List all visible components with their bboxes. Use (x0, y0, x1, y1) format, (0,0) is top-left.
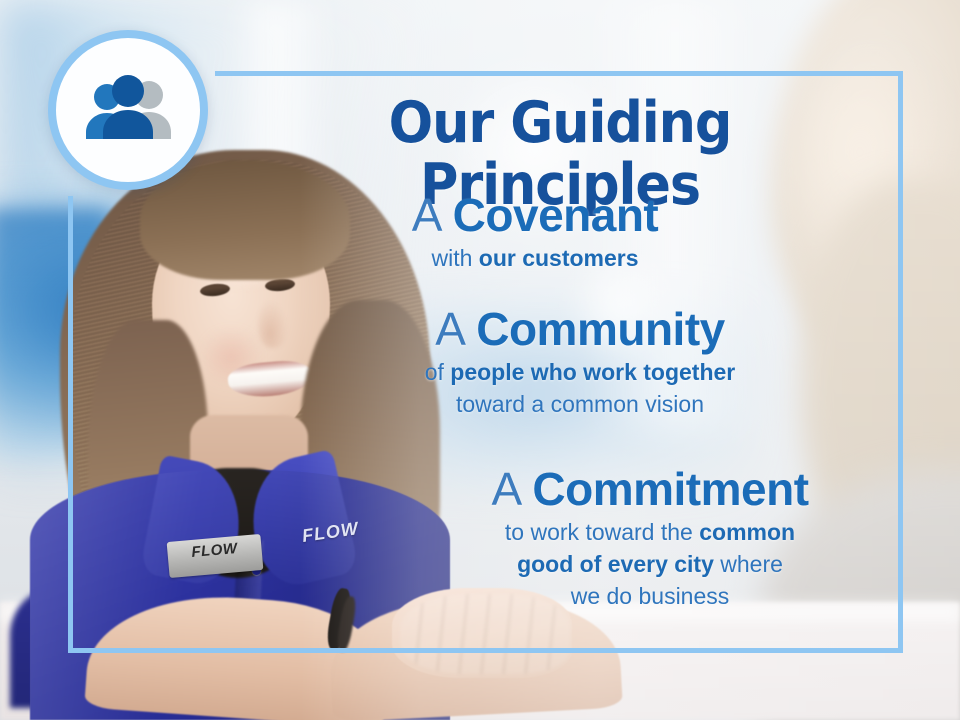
frame-border-left (68, 196, 73, 653)
principle-subtext-line: of people who work together (330, 356, 830, 388)
frame-border-top (215, 71, 903, 76)
frame-border-bottom (68, 648, 903, 653)
principle-keyword: Commitment (532, 463, 808, 515)
principle-commitment: A Commitment to work toward the commongo… (400, 462, 900, 612)
principle-subtext-line: with our customers (300, 242, 770, 274)
subtext-plain: with (431, 245, 478, 271)
banner-canvas: FLOW FLOW Our (0, 0, 960, 720)
employee-nose (258, 300, 288, 348)
subtext-emphasis: common (699, 519, 795, 545)
people-group-badge (48, 30, 208, 190)
principle-covenant: A Covenant with our customers (300, 188, 770, 274)
principle-keyword: Community (476, 303, 725, 355)
principle-article: A (412, 189, 453, 241)
principle-subtext-line: good of every city where (400, 548, 900, 580)
subtext-emphasis: good of every city (517, 551, 714, 577)
principle-article: A (491, 463, 532, 515)
principle-heading: A Community (330, 302, 830, 356)
principle-heading: A Commitment (400, 462, 900, 516)
subtext-plain: of (425, 359, 451, 385)
principle-subtext-line: to work toward the common (400, 516, 900, 548)
principle-subtext-line: we do business (400, 580, 900, 612)
principle-subtext: of people who work togethertoward a comm… (330, 356, 830, 420)
subtext-plain: to work toward the (505, 519, 699, 545)
subtext-emphasis: our customers (479, 245, 639, 271)
subtext-plain: we do business (571, 583, 730, 609)
subtext-emphasis: people who work together (450, 359, 735, 385)
principle-subtext: with our customers (300, 242, 770, 274)
principle-subtext-line: toward a common vision (330, 388, 830, 420)
subtext-plain: toward a common vision (456, 391, 704, 417)
principle-article: A (435, 303, 476, 355)
principle-community: A Community of people who work togethert… (330, 302, 830, 420)
principle-heading: A Covenant (300, 188, 770, 242)
people-group-icon (76, 73, 180, 147)
subtext-plain: where (714, 551, 783, 577)
principle-keyword: Covenant (453, 189, 659, 241)
principle-subtext: to work toward the commongood of every c… (400, 516, 900, 612)
